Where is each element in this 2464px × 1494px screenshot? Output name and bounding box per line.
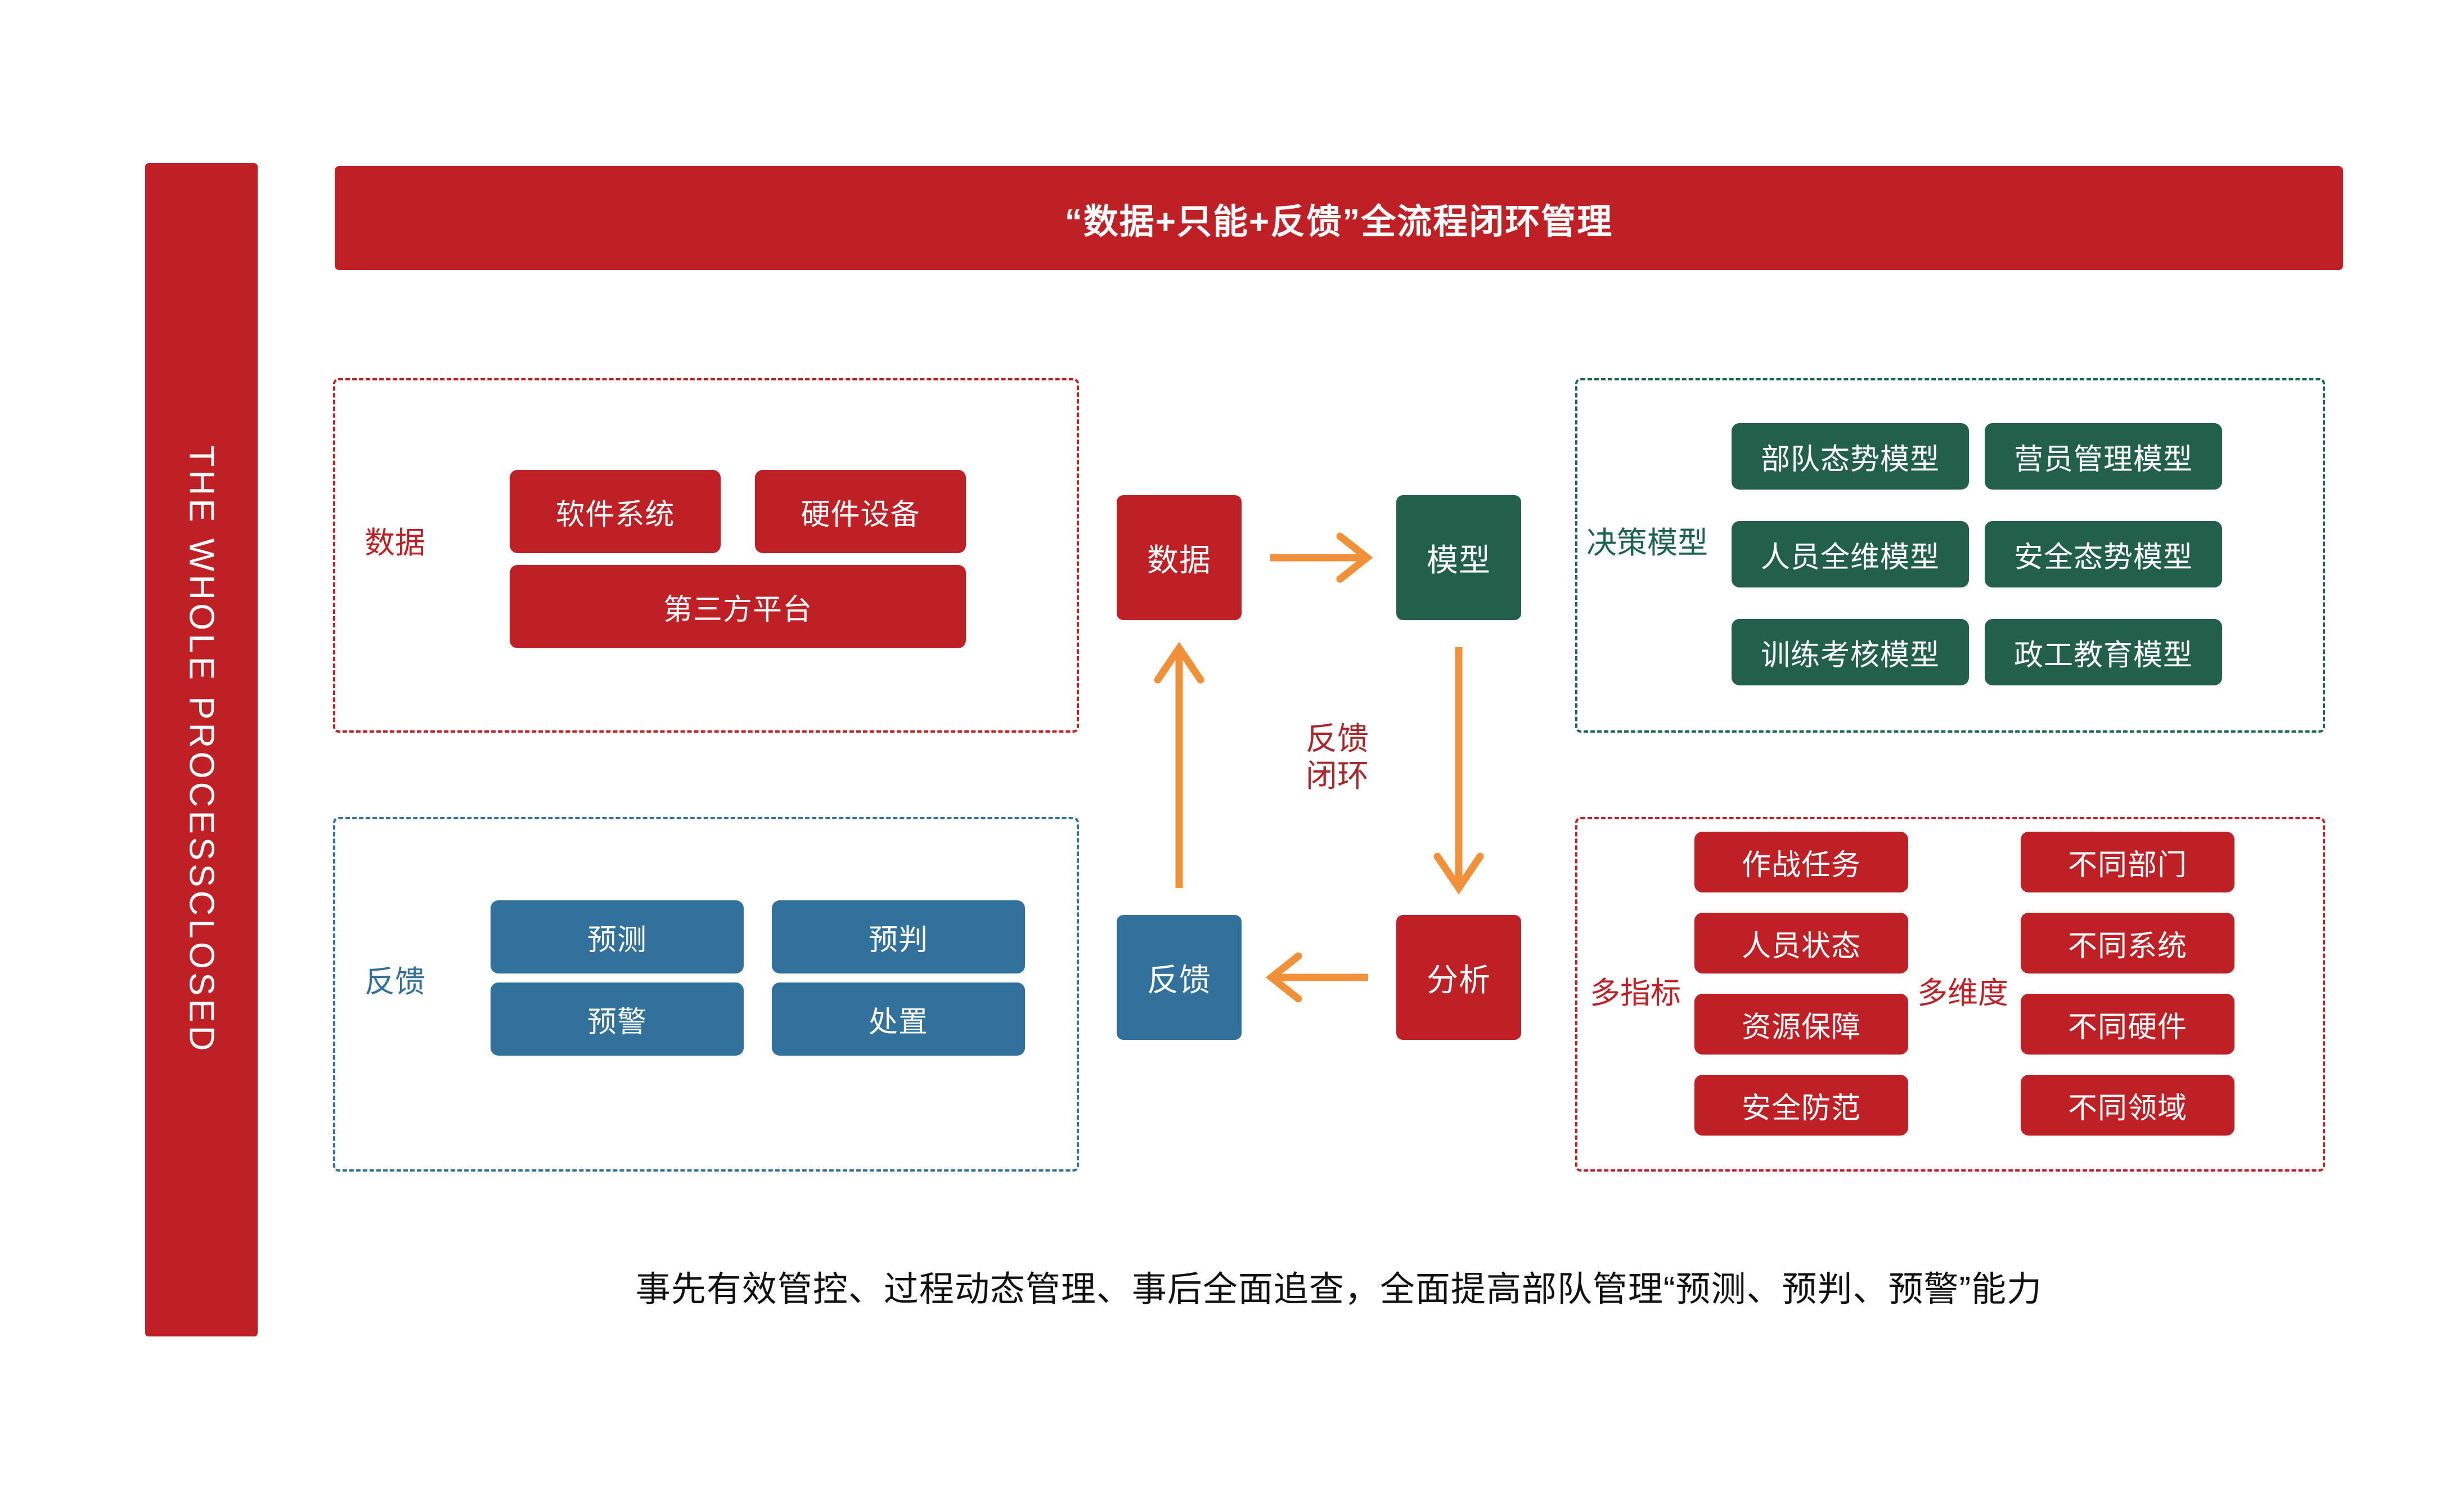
card-prejudge[interactable]: 预判: [772, 900, 1025, 973]
card-different-domain[interactable]: 不同领域: [2021, 1075, 2234, 1136]
card-political-education-model[interactable]: 政工教育模型: [1985, 619, 2222, 685]
group-decision-model-label: 决策模型: [1586, 528, 1708, 558]
group-multi-indicator-label: 多指标: [1590, 978, 1681, 1008]
flow-node-feedback[interactable]: 反馈: [1117, 915, 1242, 1040]
arrow-feedback-to-data: [1158, 648, 1200, 888]
title-banner: “数据+只能+反馈”全流程闭环管理: [335, 166, 2343, 270]
group-data-label: 数据: [365, 528, 425, 558]
card-software-system[interactable]: 软件系统: [510, 470, 721, 553]
card-safety-situation-model[interactable]: 安全态势模型: [1985, 521, 2222, 587]
side-banner-label: THE WHOLE PROCESSCLOSED: [182, 446, 222, 1055]
card-early-warning[interactable]: 预警: [491, 982, 744, 1056]
side-vertical-banner: THE WHOLE PROCESSCLOSED: [145, 163, 258, 1336]
card-third-party-platform[interactable]: 第三方平台: [510, 565, 966, 648]
feedback-loop-caption: 反馈 闭环: [1267, 720, 1408, 795]
card-disposal[interactable]: 处置: [772, 982, 1025, 1056]
card-training-assessment-model[interactable]: 训练考核模型: [1732, 619, 1969, 685]
card-different-department[interactable]: 不同部门: [2021, 832, 2234, 892]
bottom-caption: 事先有效管控、过程动态管理、事后全面追查，全面提高部队管理“预测、预判、预警”能…: [315, 1260, 2363, 1311]
card-camp-management-model[interactable]: 营员管理模型: [1985, 423, 2222, 490]
arrow-data-to-model: [1270, 536, 1367, 579]
arrow-analysis-to-feedback: [1271, 956, 1368, 999]
card-different-system[interactable]: 不同系统: [2021, 913, 2234, 973]
flow-node-model[interactable]: 模型: [1396, 495, 1521, 620]
card-forecast[interactable]: 预测: [491, 900, 744, 973]
flow-node-data[interactable]: 数据: [1117, 495, 1242, 620]
group-feedback-label: 反馈: [365, 967, 425, 997]
card-resource-guarantee[interactable]: 资源保障: [1694, 994, 1908, 1055]
feedback-loop-caption-line2: 闭环: [1267, 757, 1408, 795]
page-title: “数据+只能+反馈”全流程闭环管理: [1065, 193, 1613, 244]
feedback-loop-caption-line1: 反馈: [1267, 720, 1408, 757]
card-personnel-full-dimension-model[interactable]: 人员全维模型: [1732, 521, 1969, 587]
card-combat-mission[interactable]: 作战任务: [1694, 832, 1908, 892]
slide-canvas: THE WHOLE PROCESSCLOSED “数据+只能+反馈”全流程闭环管…: [0, 0, 2464, 1494]
flow-node-analysis[interactable]: 分析: [1396, 915, 1521, 1040]
card-troop-situation-model[interactable]: 部队态势模型: [1732, 423, 1969, 490]
group-data: [333, 378, 1079, 733]
card-hardware-device[interactable]: 硬件设备: [755, 470, 966, 553]
group-multi-dimension-label: 多维度: [1917, 978, 2008, 1008]
card-personnel-status[interactable]: 人员状态: [1694, 913, 1908, 973]
arrow-model-to-analysis: [1437, 647, 1480, 888]
card-safety-precaution[interactable]: 安全防范: [1694, 1075, 1908, 1136]
card-different-hardware[interactable]: 不同硬件: [2021, 994, 2234, 1055]
